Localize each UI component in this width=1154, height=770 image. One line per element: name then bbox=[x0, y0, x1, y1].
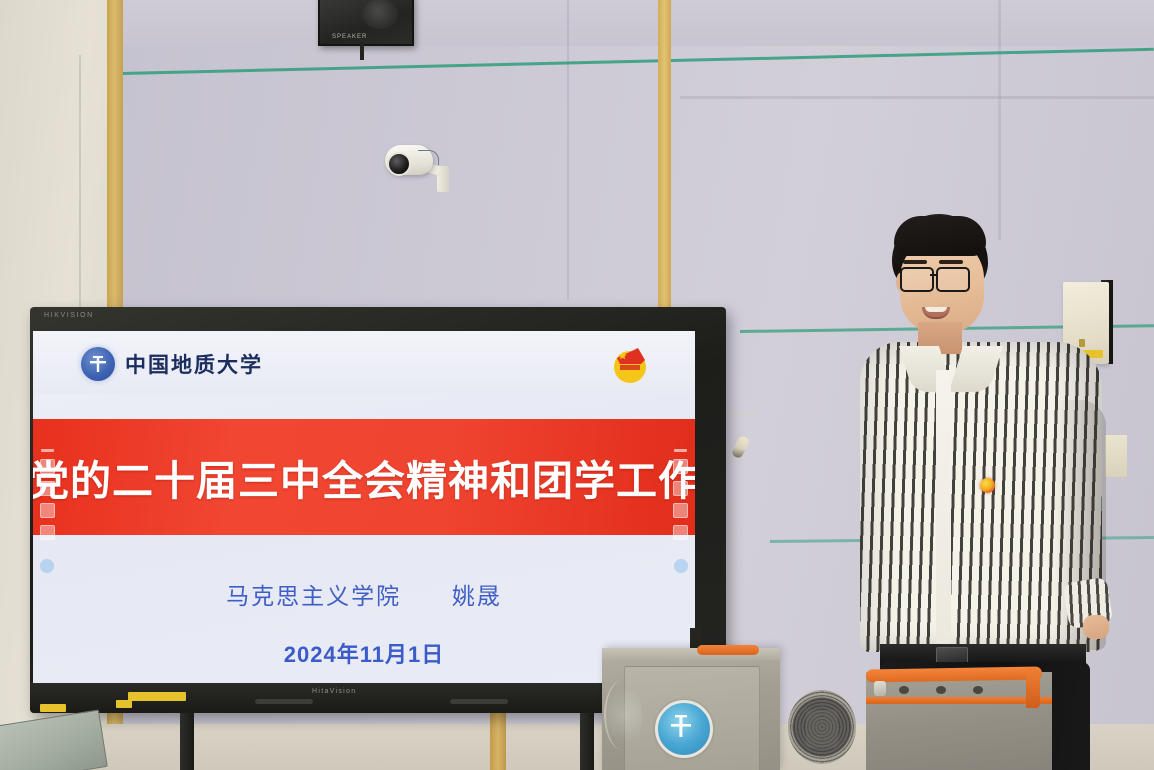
university-emblem-mark-icon bbox=[89, 354, 107, 374]
lectern-port bbox=[973, 686, 983, 694]
menu-icon[interactable] bbox=[41, 449, 54, 452]
classroom-scene: SPEAKER HIKVISION 中国地质大学 bbox=[0, 0, 1154, 770]
annotate-icon[interactable] bbox=[40, 459, 55, 474]
presenter-eyebrow bbox=[939, 260, 963, 264]
eyeglasses-lens-right-icon bbox=[936, 267, 970, 292]
lectern-knob[interactable] bbox=[874, 681, 886, 696]
display-brand-top-label: HIKVISION bbox=[44, 312, 94, 319]
university-name: 中国地质大学 bbox=[125, 349, 263, 379]
display-warning-label bbox=[128, 692, 186, 701]
slide-presenter-line: 马克思主义学院 姚晟 bbox=[33, 577, 695, 611]
onscreen-toolbar-left[interactable] bbox=[39, 449, 56, 540]
eyeglasses-lens-left-icon bbox=[900, 267, 934, 292]
presenter-hair-front bbox=[894, 216, 986, 256]
wall-seam bbox=[567, 0, 569, 300]
wall-seam bbox=[680, 96, 1154, 99]
presenter-shirt-placket bbox=[936, 370, 951, 652]
display-warning-label bbox=[40, 704, 66, 712]
speaker-mount bbox=[360, 42, 364, 60]
toolbar-handle-left[interactable] bbox=[40, 559, 54, 573]
wood-trim-strip bbox=[658, 0, 671, 310]
speaker-cone-icon bbox=[362, 0, 398, 29]
presenter-teeth bbox=[925, 307, 947, 312]
lapel-badge-icon bbox=[980, 478, 995, 493]
home-icon[interactable] bbox=[40, 503, 55, 518]
screenshot-icon[interactable] bbox=[673, 481, 688, 496]
slide-date: 2024年11月1日 bbox=[33, 637, 695, 669]
toolbar-handle-right[interactable] bbox=[674, 559, 688, 573]
camera-cable bbox=[418, 150, 439, 165]
display-stand-leg bbox=[180, 713, 194, 770]
lectern-emblem-mark-icon bbox=[670, 712, 692, 740]
camera-wall-mount bbox=[437, 166, 449, 192]
bezel-speaker-slot bbox=[255, 699, 313, 704]
display-stand-leg bbox=[580, 713, 594, 770]
slide-title: 党的二十届三中全会精神和团学工作 bbox=[33, 447, 695, 507]
lectern-grille-logo-icon bbox=[806, 710, 838, 748]
lectern-accent-tab bbox=[697, 645, 759, 655]
wall-seam bbox=[998, 0, 1001, 240]
onscreen-toolbar-right[interactable] bbox=[672, 449, 689, 540]
back-icon[interactable] bbox=[40, 525, 55, 540]
screenshot-icon[interactable] bbox=[40, 481, 55, 496]
bezel-speaker-slot bbox=[450, 699, 508, 704]
eyeglasses-bridge-icon bbox=[930, 274, 936, 276]
menu-icon[interactable] bbox=[674, 449, 687, 452]
lectern-right-section bbox=[866, 672, 1052, 770]
lectern-port bbox=[936, 686, 946, 694]
ceiling-speaker: SPEAKER bbox=[318, 0, 414, 46]
presenter-name: 姚晟 bbox=[452, 583, 502, 609]
camera-lens-icon bbox=[387, 152, 411, 176]
home-icon[interactable] bbox=[673, 503, 688, 518]
display-screen[interactable]: 中国地质大学 党的二十届三中全会精神和团学工作 马克思主义学院 姚晟 2024年… bbox=[33, 331, 695, 683]
presenter-hand bbox=[1083, 615, 1109, 639]
lectern-accent-edge bbox=[866, 697, 1052, 704]
lectern-side-emblem bbox=[604, 680, 642, 750]
back-icon[interactable] bbox=[673, 525, 688, 540]
slide-header: 中国地质大学 bbox=[33, 331, 695, 395]
communist-youth-league-emblem-icon bbox=[607, 340, 653, 386]
display-brand-bottom-label: HitaVision bbox=[312, 688, 356, 695]
wood-trim-strip bbox=[490, 712, 506, 770]
display-warning-label bbox=[116, 700, 132, 708]
presenter-eyebrow bbox=[903, 260, 927, 264]
slide-body: 马克思主义学院 姚晟 2024年11月1日 bbox=[33, 535, 695, 683]
slide-title-band: 党的二十届三中全会精神和团学工作 bbox=[33, 419, 695, 535]
annotate-icon[interactable] bbox=[673, 459, 688, 474]
lectern-port bbox=[899, 686, 909, 694]
lectern-accent-hook bbox=[1026, 668, 1040, 708]
presenter-department: 马克思主义学院 bbox=[226, 583, 401, 609]
speaker-brand-label: SPEAKER bbox=[332, 34, 367, 40]
